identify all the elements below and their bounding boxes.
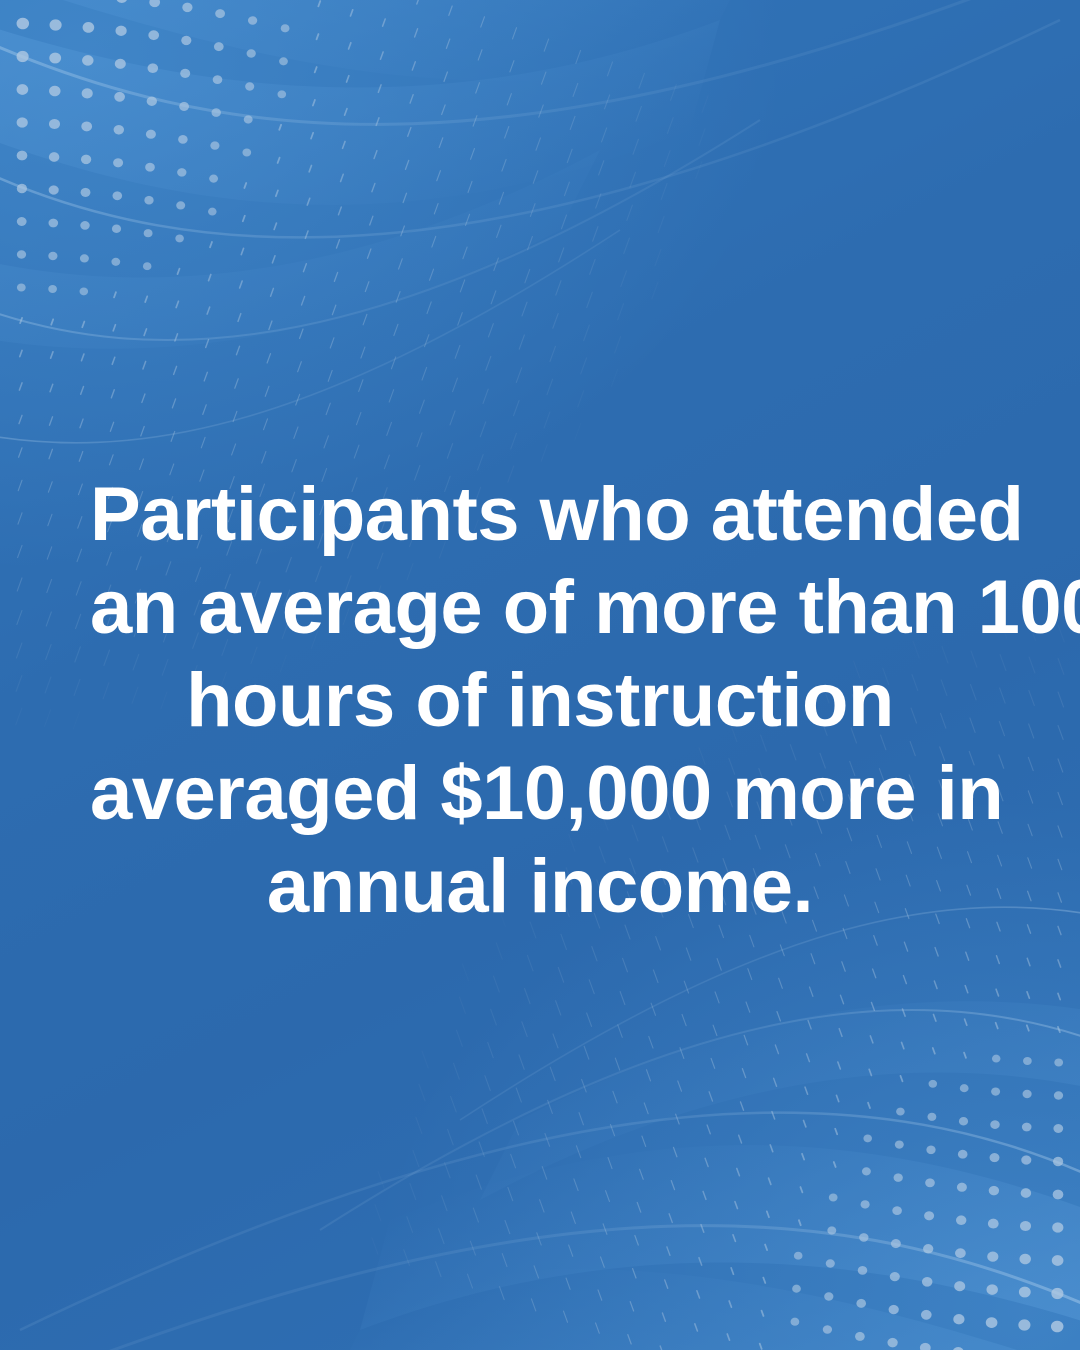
page-headline: Participants who attended an average of … <box>90 468 990 933</box>
headline-line-2: an average of more than 100 <box>90 561 990 654</box>
statistic-card: Participants who attended an average of … <box>0 0 1080 1350</box>
headline-line-1: Participants who attended <box>90 468 990 561</box>
headline-line-5: annual income. <box>90 840 990 933</box>
headline-line-4: averaged $10,000 more in <box>90 747 990 840</box>
headline-line-3: hours of instruction <box>90 654 990 747</box>
headline-block: Participants who attended an average of … <box>0 468 1080 933</box>
